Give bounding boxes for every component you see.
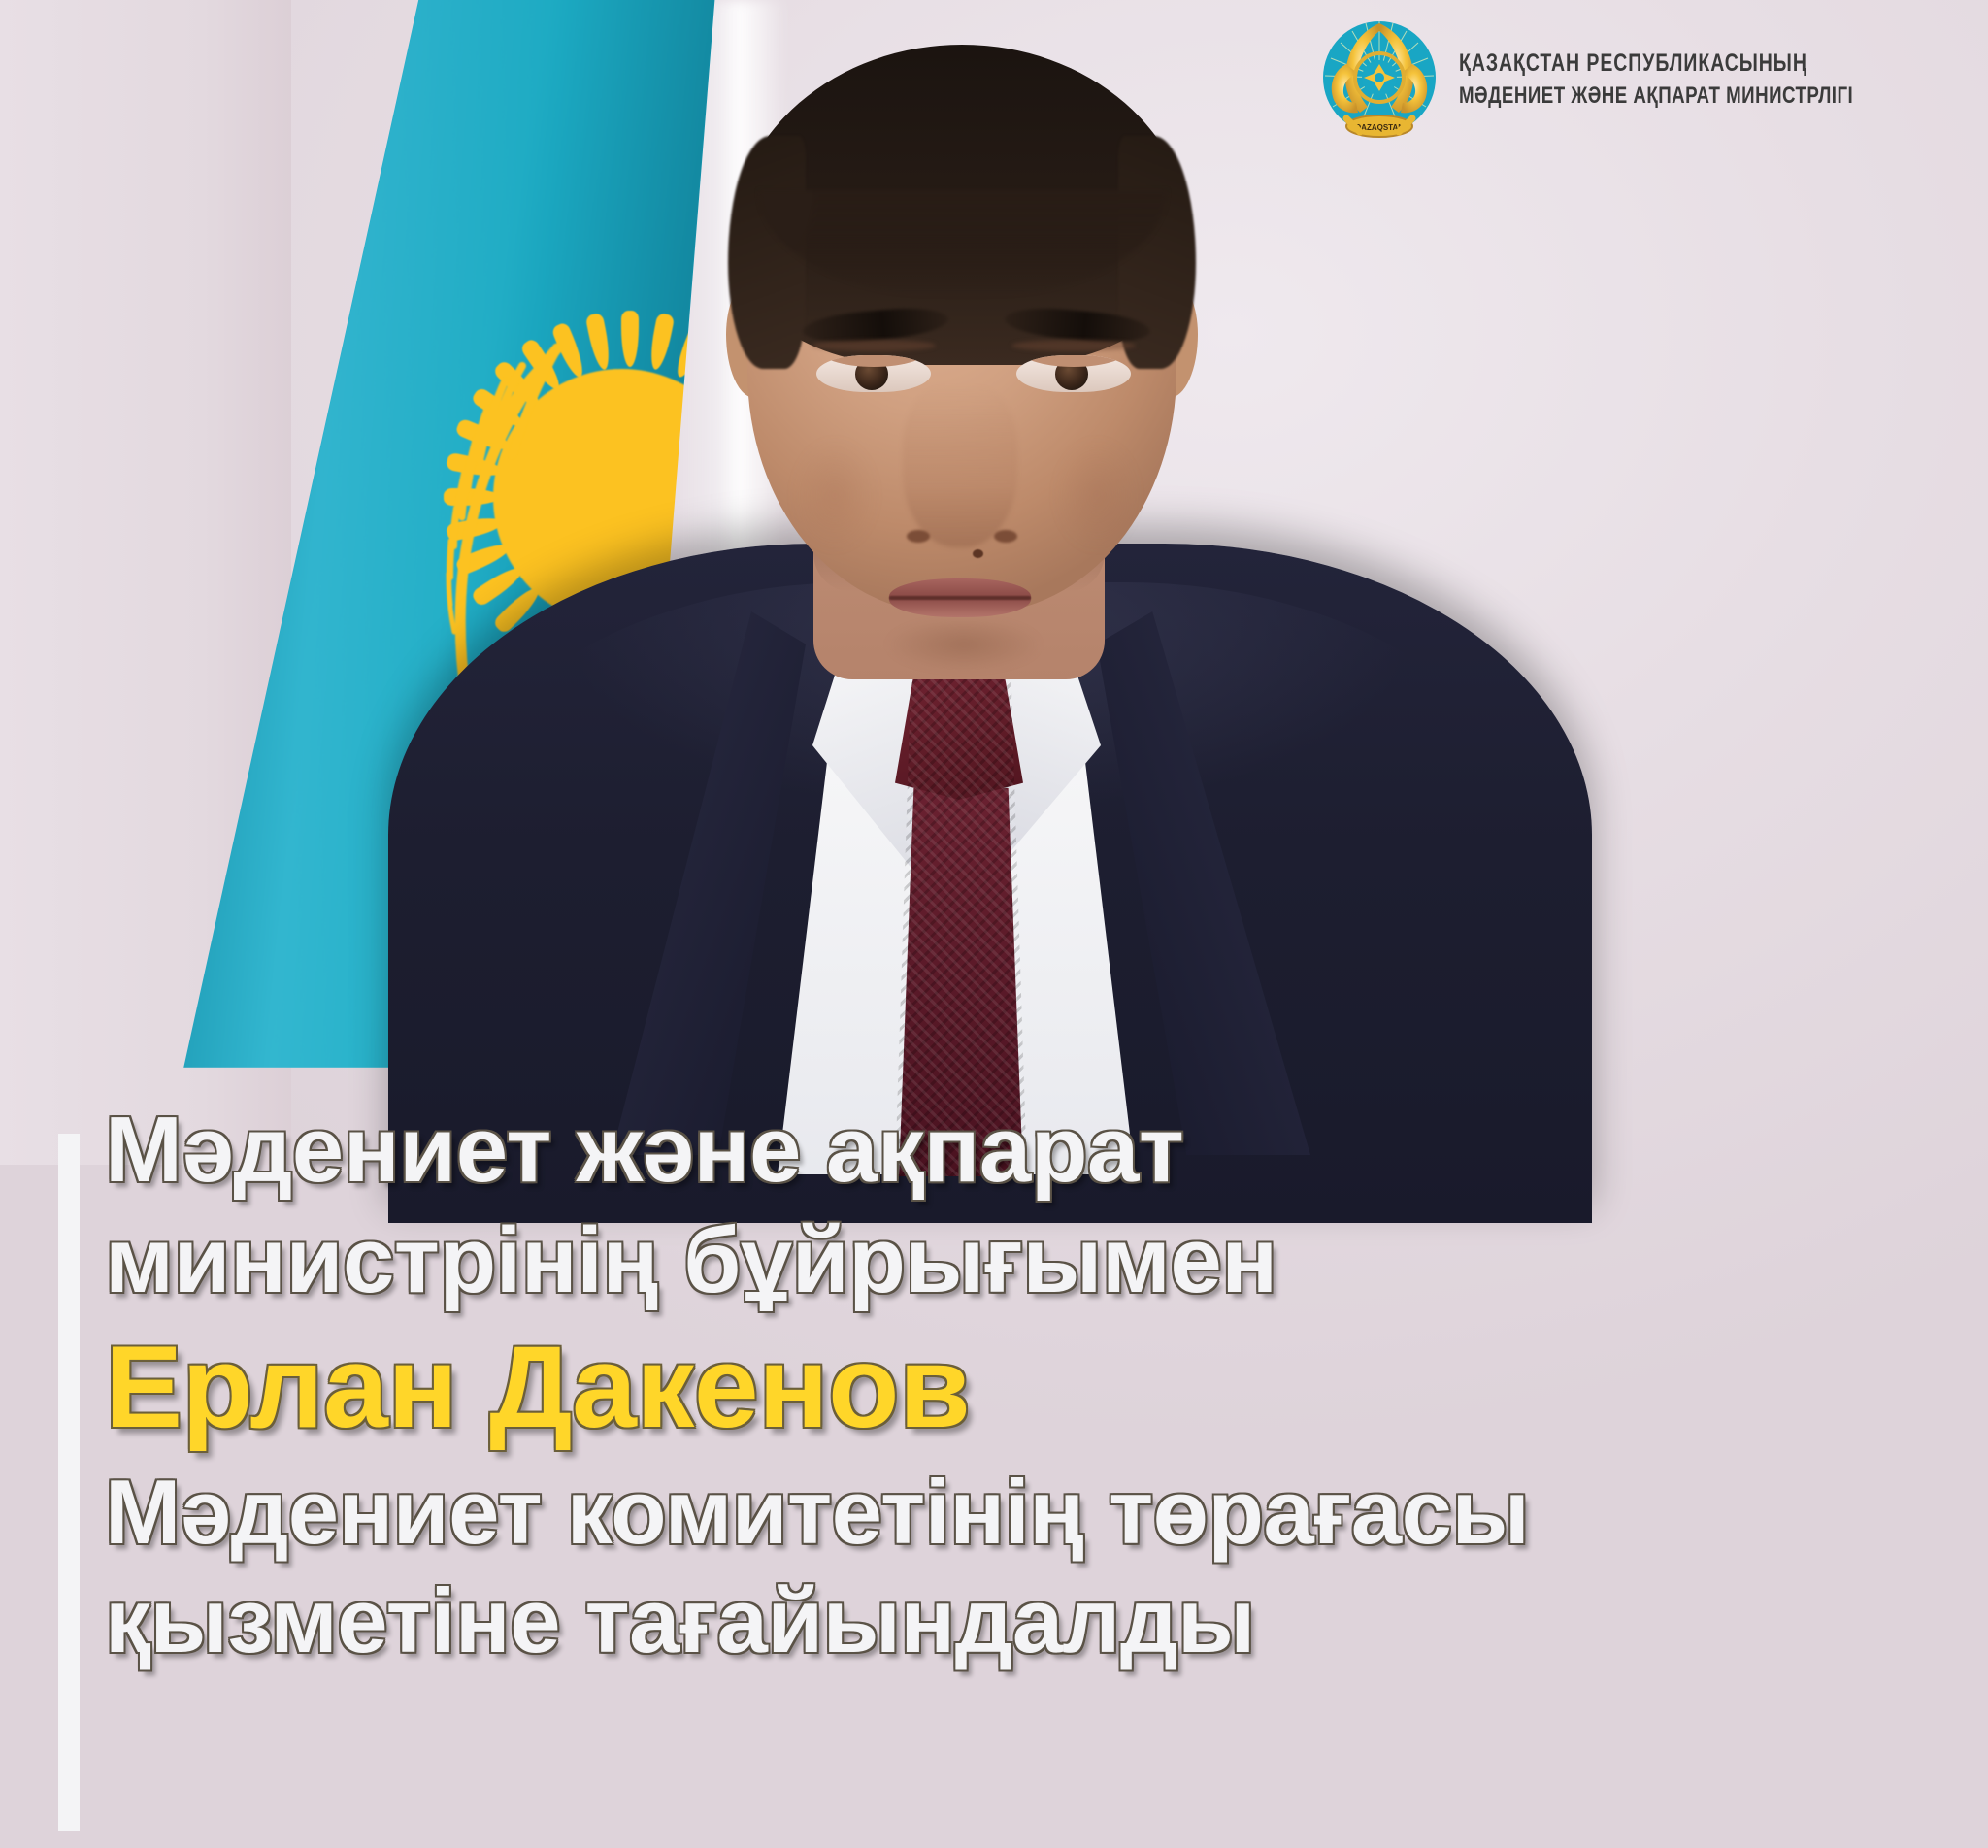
ministry-logo-text: ҚАЗАҚСТАН РЕСПУБЛИКАСЫНЫҢ МӘДЕНИЕТ ЖӘНЕ … [1459,49,1965,111]
person-figure [320,0,1660,1165]
facial-mole [973,549,983,558]
appointee-name: Ерлан Дакенов [105,1316,1930,1458]
nostril-left [907,530,930,543]
headline-line-1: Мәдениет және ақпарат [105,1095,1930,1205]
nose [903,384,1017,547]
cheek-right [1039,417,1155,573]
eyelid-crease-right [1011,340,1136,351]
vertical-accent-bar [58,1134,80,1831]
headline-line-2: министрінің бұйрығымен [105,1205,1930,1316]
announcement-poster: QAZAQSTAN ҚАЗАҚСТАН РЕСПУБЛИКАСЫНЫҢ МӘДЕ… [0,0,1988,1848]
nostril-right [994,530,1017,543]
eye-left [816,355,931,392]
upper-lid-left [816,355,931,367]
lip-line [889,596,1031,600]
eye-right [1016,355,1131,392]
cheek-left [777,417,893,573]
ministry-name-line-1: ҚАЗАҚСТАН РЕСПУБЛИКАСЫНЫҢ [1459,49,1853,78]
upper-lid-right [1016,355,1131,367]
announcement-headline: Мәдениет және ақпарат министрінің бұйрығ… [105,1095,1930,1675]
kazakhstan-state-emblem-icon: QAZAQSTAN [1317,17,1441,142]
chin-shadow [852,621,1076,699]
headline-line-4: Мәдениет комитетінің төрағасы [105,1458,1930,1567]
eyelid-crease-left [812,340,936,351]
ministry-name-line-2: МӘДЕНИЕТ ЖӘНЕ АҚПАРАТ МИНИСТРЛІГІ [1459,82,1853,111]
ministry-logo: QAZAQSTAN ҚАЗАҚСТАН РЕСПУБЛИКАСЫНЫҢ МӘДЕ… [1317,17,1965,142]
headline-line-5: қызметіне тағайындалды [105,1567,1930,1675]
